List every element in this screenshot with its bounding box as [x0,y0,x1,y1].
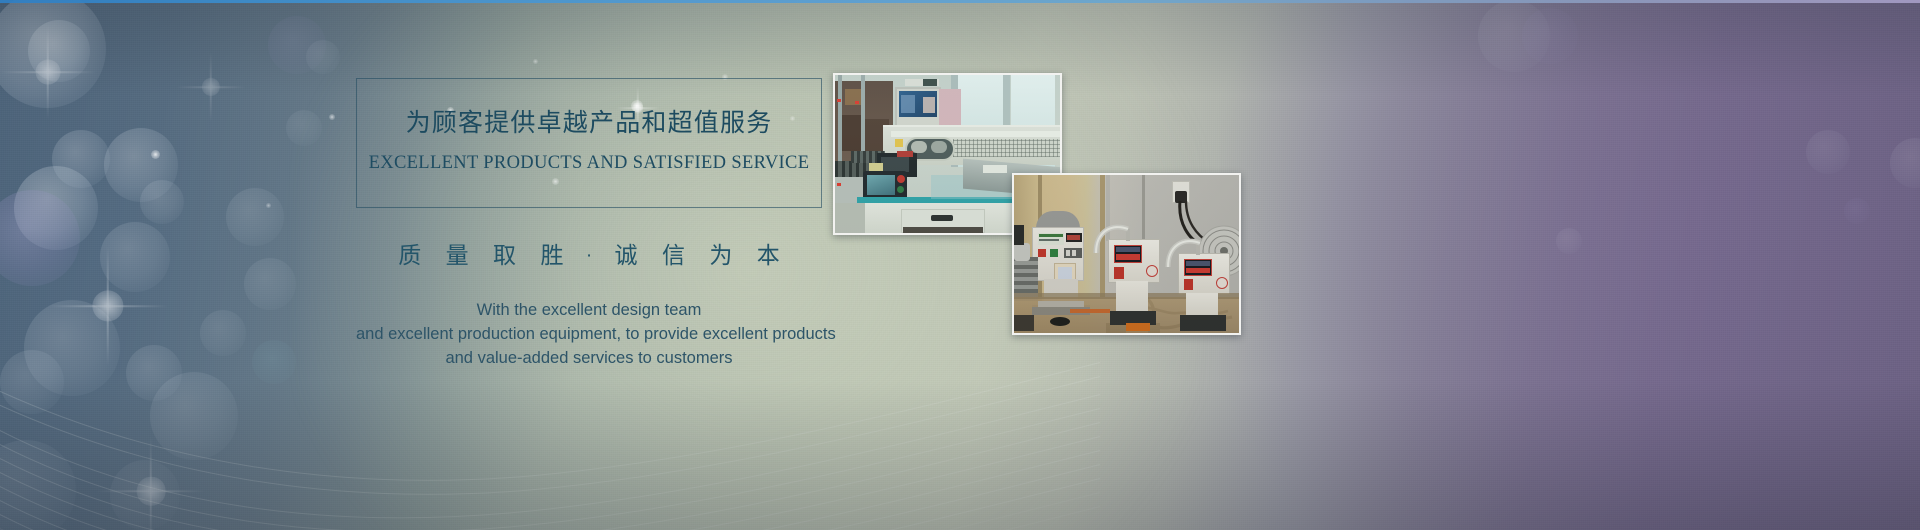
photo-press-machines[interactable] [1012,173,1241,335]
paragraph-line: and excellent production equipment, to p… [356,322,822,346]
hero-banner: 为顾客提供卓越产品和超值服务 EXCELLENT PRODUCTS AND SA… [0,0,1920,530]
top-accent-rule [0,0,1920,3]
slogan-separator-dot: · [579,245,599,267]
slogan-char: 胜 [531,236,572,270]
slogan-char: 取 [484,236,525,270]
slogan-char: 诚 [606,236,647,270]
slogan-char: 本 [748,236,789,270]
banner-paragraph: With the excellent design team and excel… [356,298,822,370]
slogan-char: 信 [653,236,694,270]
slogan-char: 为 [700,236,741,270]
slogan-chinese: 质 量 取 胜 · 诚 信 为 本 [356,236,822,270]
slogan-char: 质 [389,236,430,270]
headline-frame: 为顾客提供卓越产品和超值服务 EXCELLENT PRODUCTS AND SA… [356,78,822,208]
headline-english: EXCELLENT PRODUCTS AND SATISFIED SERVICE [357,153,821,174]
slogan-char: 量 [437,236,478,270]
paragraph-line: and value-added services to customers [356,346,822,370]
headline-chinese: 为顾客提供卓越产品和超值服务 [357,103,821,139]
paragraph-line: With the excellent design team [356,298,822,322]
